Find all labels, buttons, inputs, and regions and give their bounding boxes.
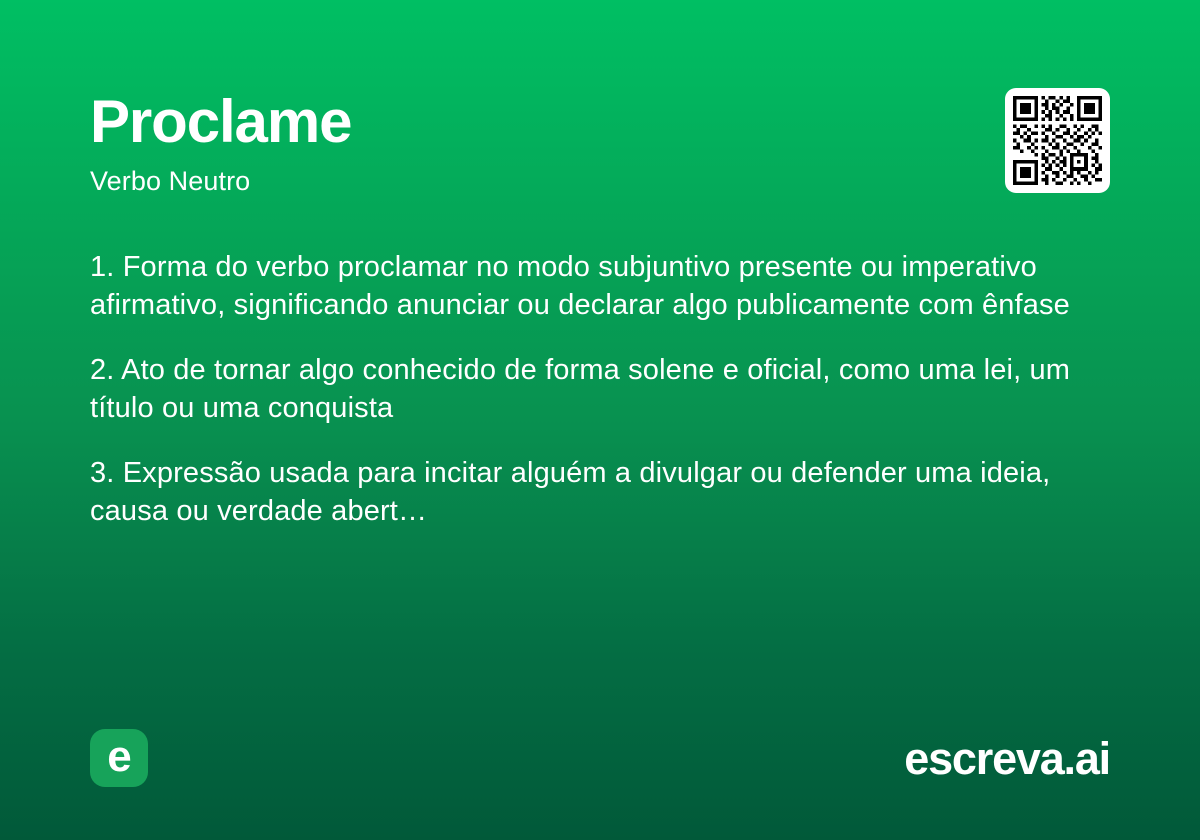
definitions-list: 1. Forma do verbo proclamar no modo subj… — [90, 248, 1080, 530]
brand-wordmark: escreva.ai — [904, 736, 1110, 781]
definition-item: 3. Expressão usada para incitar alguém a… — [90, 454, 1080, 530]
definition-item: 2. Ato de tornar algo conhecido de forma… — [90, 351, 1080, 427]
page-title: Proclame — [90, 90, 351, 155]
definition-item: 1. Forma do verbo proclamar no modo subj… — [90, 248, 1080, 324]
word-definition-card: Proclame Verbo Neutro — [0, 0, 1200, 840]
word-class-label: Verbo Neutro — [90, 165, 351, 197]
headings-group: Proclame Verbo Neutro — [90, 88, 351, 197]
qr-code-icon[interactable] — [1005, 88, 1110, 193]
escreva-logo-icon: e — [90, 729, 148, 787]
card-header: Proclame Verbo Neutro — [90, 88, 1110, 197]
card-footer: e escreva.ai — [90, 728, 1110, 788]
logo-letter: e — [107, 735, 130, 779]
